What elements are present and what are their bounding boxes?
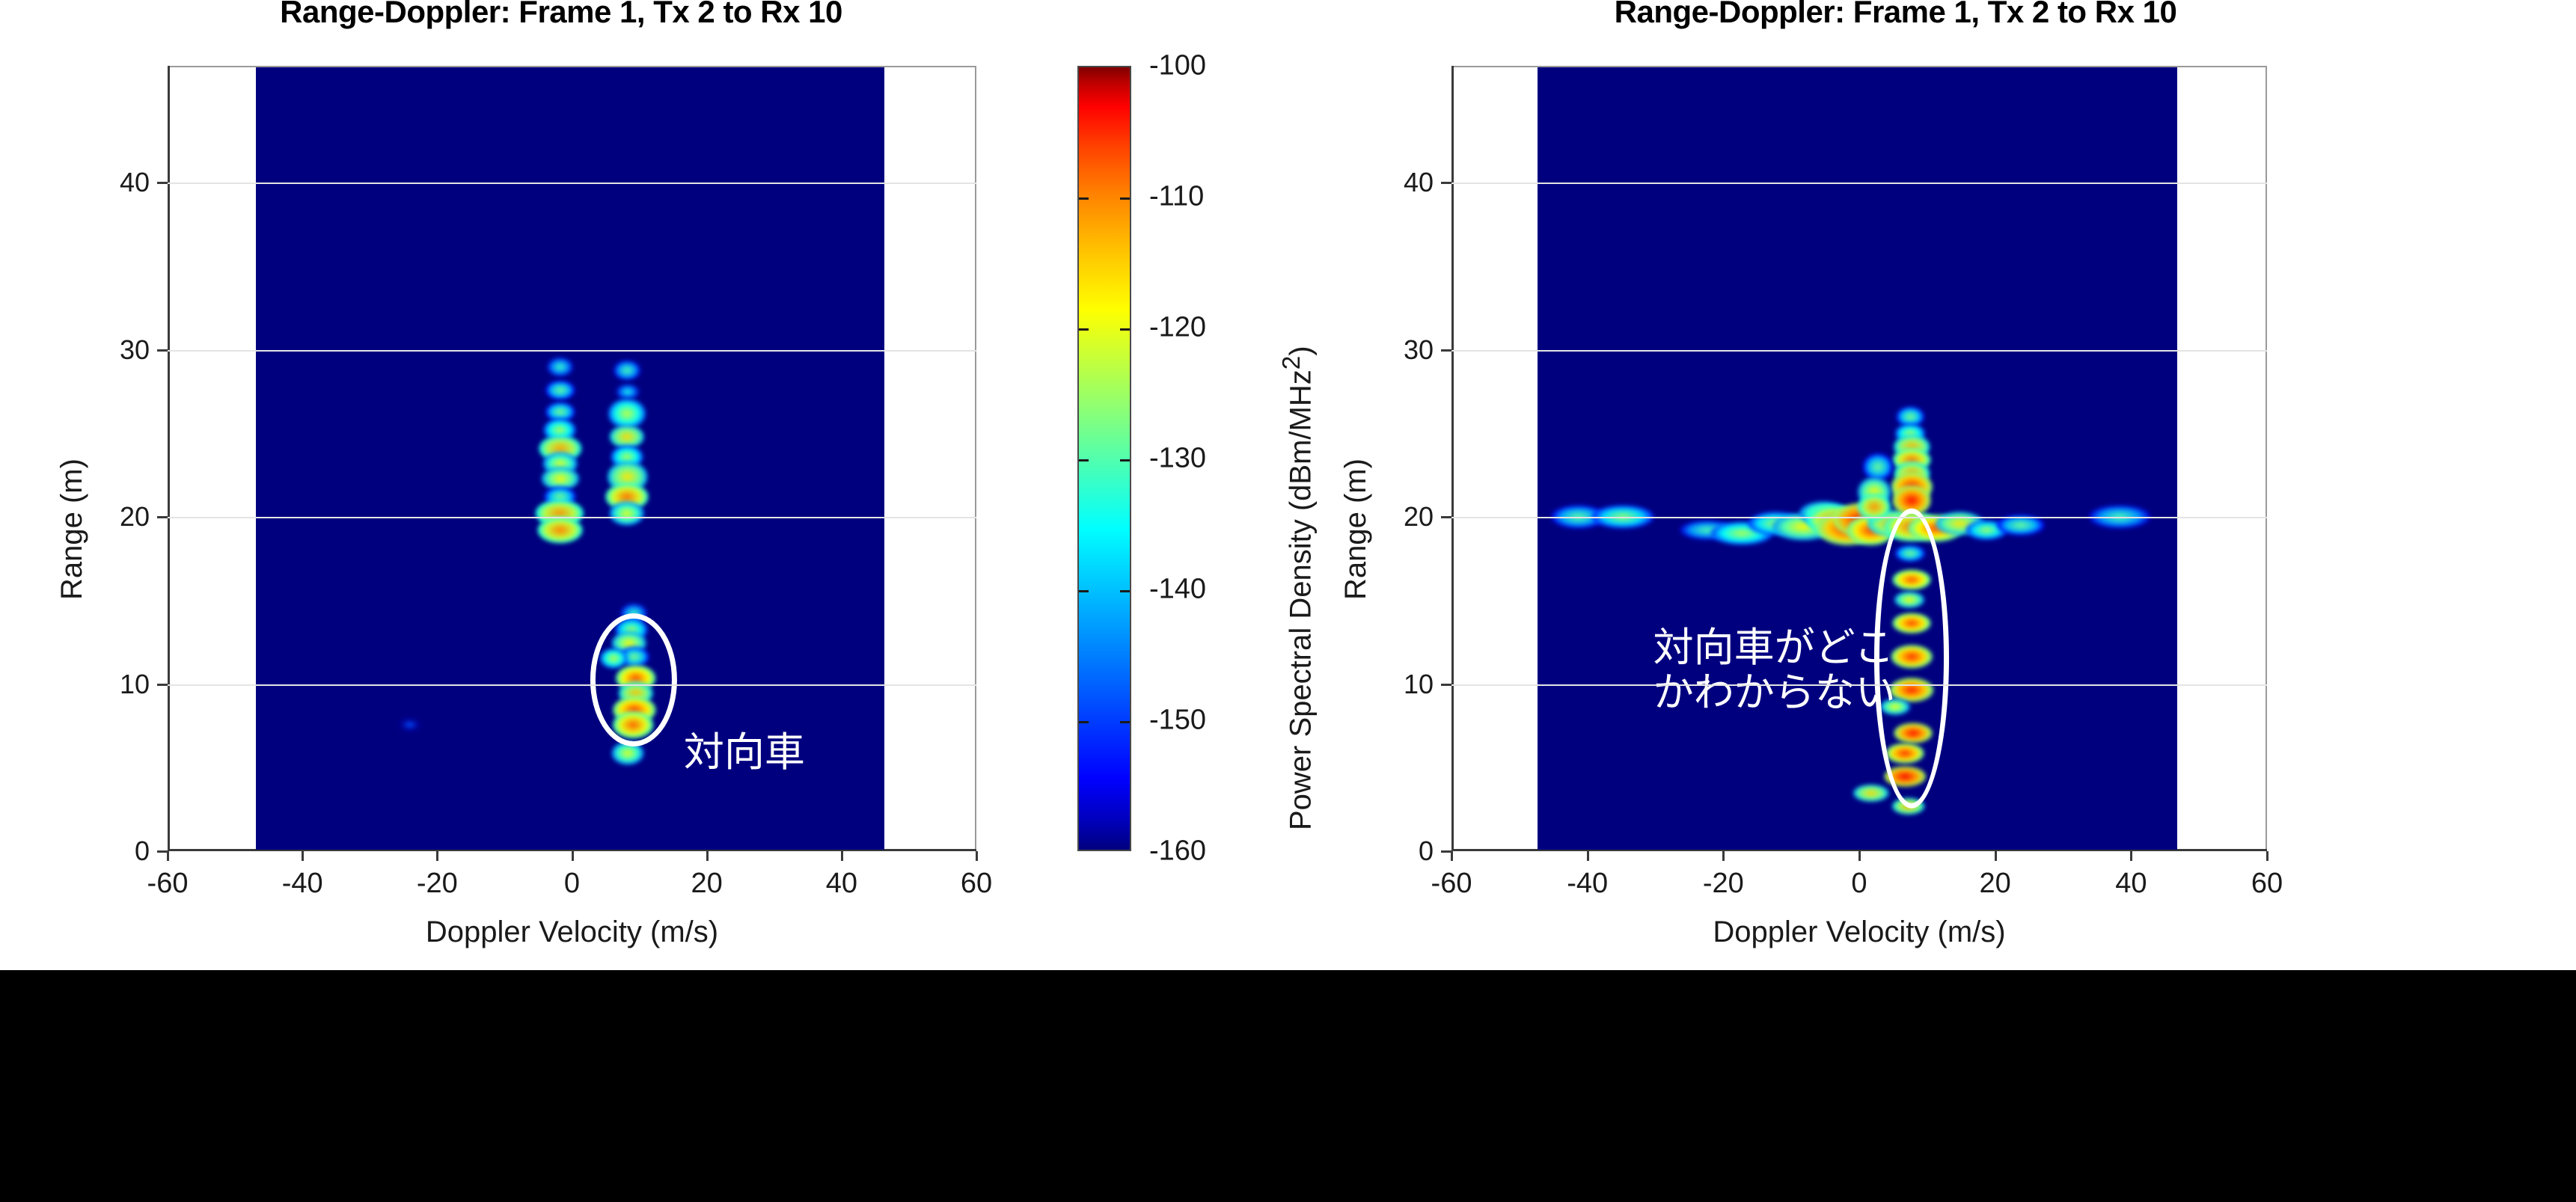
y-tick	[1441, 182, 1451, 184]
heatmap-blob	[545, 380, 575, 400]
x-tick	[302, 851, 304, 861]
x-tick-label: 20	[1980, 868, 2011, 900]
x-tick-label: 0	[1851, 868, 1867, 900]
y-tick	[157, 850, 168, 853]
x-tick	[1722, 851, 1725, 861]
y-tick-label: 30	[1404, 334, 1434, 366]
x-tick	[706, 851, 709, 861]
y-tick-label: 10	[1404, 669, 1434, 700]
x-tick	[572, 851, 574, 861]
heatmap-blob	[537, 517, 583, 544]
colorbar-tick-label: -120	[1149, 312, 1206, 344]
x-tick	[436, 851, 438, 861]
colorbar-tick-label: -110	[1149, 181, 1204, 213]
colorbar-tick-label: -100	[1149, 50, 1206, 82]
y-tick	[157, 516, 168, 518]
x-tick	[1587, 851, 1589, 861]
heatmap-blob	[547, 357, 574, 377]
y-tick-label: 30	[120, 334, 150, 366]
colorbar-tick	[1079, 721, 1089, 723]
oncoming-vehicle-label: 対向車	[684, 730, 805, 775]
x-tick	[976, 851, 978, 861]
x-tick-label: 0	[564, 868, 580, 900]
heatmap-blob	[1853, 785, 1888, 801]
x-tick	[2266, 851, 2268, 861]
colorbar-tick	[1079, 197, 1089, 200]
heatmap-blob	[616, 384, 640, 400]
x-tick-label: -60	[147, 868, 189, 900]
colorbar-tick	[1079, 328, 1089, 331]
colorbar-tick	[1120, 721, 1130, 723]
colorbar-gradient	[1077, 66, 1131, 851]
heatmap-blob	[614, 361, 640, 381]
colorbar-tick	[1120, 459, 1130, 462]
x-tick-label: 60	[2251, 868, 2283, 900]
colorbar-left: Power Spectral Density (dBm/MHz2) -100-1…	[1077, 66, 1131, 851]
y-tick	[157, 349, 168, 352]
y-tick-label: 10	[120, 669, 150, 700]
y-tick	[157, 182, 168, 184]
gridline-y	[1451, 684, 2267, 686]
colorbar-tick	[1079, 459, 1089, 462]
x-tick	[1995, 851, 1997, 861]
colorbar-tick-label: -130	[1149, 443, 1206, 475]
heatmap-blob	[610, 502, 644, 525]
y-tick-label: 40	[120, 167, 150, 198]
panel-left: Range-Doppler: Frame 1, Tx 2 to Rx 10 対向…	[0, 0, 1287, 970]
gridline-y	[168, 517, 976, 518]
x-tick-label: -40	[282, 868, 323, 900]
gridline-y	[1451, 517, 2267, 518]
page-title: Range-Doppler: Frame 1, Tx 2 to Rx 10	[0, 0, 1205, 30]
y-tick	[1441, 684, 1451, 686]
axes-left: 対向車 Range (m) Doppler Velocity (m/s) 010…	[168, 66, 976, 851]
x-tick	[167, 851, 169, 861]
gridline-y	[168, 684, 976, 686]
x-tick-label: -20	[1703, 868, 1744, 900]
heatmap-blob	[1863, 453, 1893, 480]
x-tick-label: 40	[2115, 868, 2147, 900]
x-tick	[841, 851, 843, 861]
heatmap-data-left: 対向車	[256, 67, 884, 850]
x-axis-title: Doppler Velocity (m/s)	[168, 916, 976, 949]
colorbar-tick	[1120, 590, 1130, 592]
x-tick	[1858, 851, 1861, 861]
x-tick-label: 60	[961, 868, 992, 900]
x-tick-label: -40	[1567, 868, 1608, 900]
heatmap-blob	[397, 717, 423, 733]
x-tick-label: 40	[826, 868, 857, 900]
y-tick	[1441, 850, 1451, 853]
x-tick-label: -20	[417, 868, 458, 900]
y-axis-title: Range (m)	[55, 459, 89, 600]
colorbar-tick-label: -160	[1149, 835, 1206, 868]
y-axis-title: Range (m)	[1339, 459, 1373, 600]
x-axis-title: Doppler Velocity (m/s)	[1451, 916, 2267, 949]
gridline-y	[1451, 183, 2267, 184]
gridline-y	[168, 183, 976, 184]
axes-right: 対向車がどこ かわからない Range (m) Doppler Velocity…	[1451, 66, 2267, 851]
heatmap-blob	[608, 399, 646, 429]
x-tick-label: -60	[1431, 868, 1472, 900]
colorbar-tick-label: -140	[1149, 574, 1206, 606]
y-tick-label: 0	[135, 835, 150, 867]
y-tick	[1441, 516, 1451, 518]
heatmap-blob	[1858, 494, 1891, 521]
y-tick-label: 0	[1419, 835, 1434, 867]
bottom-black-bar	[0, 970, 2576, 1202]
y-tick-label: 20	[1404, 501, 1434, 533]
x-tick-label: 20	[691, 868, 723, 900]
x-tick	[1451, 851, 1453, 861]
x-tick	[2130, 851, 2132, 861]
ambiguity-label: 対向車がどこ かわからない	[1653, 625, 1896, 716]
y-tick-label: 20	[120, 501, 150, 533]
colorbar-tick-label: -150	[1149, 705, 1206, 737]
colorbar-tick	[1120, 197, 1130, 200]
page-title-right: Range-Doppler: Frame 1, Tx 2 to Rx 10	[1251, 0, 2540, 30]
gridline-y	[1451, 350, 2267, 352]
colorbar-tick	[1120, 328, 1130, 331]
y-tick-label: 40	[1404, 167, 1434, 198]
y-tick	[1441, 349, 1451, 352]
y-tick	[157, 684, 168, 686]
panel-right: Range-Doppler: Frame 1, Tx 2 to Rx 10 対向…	[1287, 0, 2576, 970]
heatmap-data-right: 対向車がどこ かわからない	[1538, 67, 2177, 850]
colorbar-tick	[1079, 590, 1089, 592]
gridline-y	[168, 350, 976, 352]
oncoming-vehicle-ellipse	[590, 613, 677, 746]
